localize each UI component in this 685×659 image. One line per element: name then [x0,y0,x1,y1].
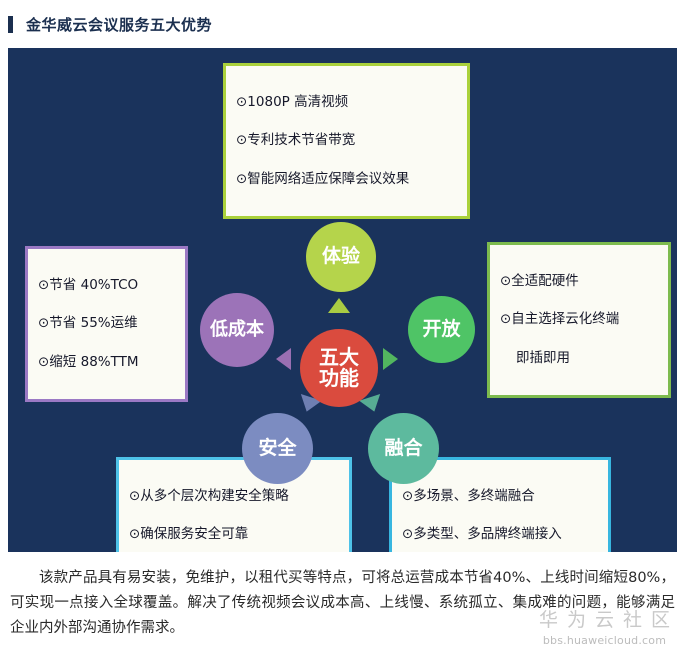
node-experience: 体验 [306,222,376,292]
node-low-cost: 低成本 [200,293,274,367]
node-security: 安全 [242,413,313,484]
node-fusion: 融合 [368,413,439,484]
arrow-right-icon [383,348,398,370]
node-center: 五大 功能 [300,329,378,407]
node-experience-label: 体验 [322,247,360,267]
node-open: 开放 [408,296,475,363]
node-center-label-line-2: 功能 [319,368,359,389]
diagram-panel: ⊙1080P 高清视频 ⊙专利技术节省带宽 ⊙智能网络适应保障会议效果 ⊙节省 … [8,48,677,552]
callout-security-line-1: ⊙从多个层次构建安全策略 [129,487,339,506]
node-low-cost-label: 低成本 [210,321,264,340]
node-security-label: 安全 [258,439,296,459]
arrow-up-icon [328,298,350,313]
callout-experience-line-2: ⊙专利技术节省带宽 [236,131,457,150]
callout-low-cost: ⊙节省 40%TCO ⊙节省 55%运维 ⊙缩短 88%TTM [25,246,188,402]
page-header: 金华威云会议服务五大优势 [0,0,685,48]
node-center-label-line-1: 五大 [319,347,359,368]
callout-security: ⊙从多个层次构建安全策略 ⊙确保服务安全可靠 [116,457,352,552]
callout-fusion-line-2: ⊙多类型、多品牌终端接入 [402,525,598,544]
callout-low-cost-line-2: ⊙节省 55%运维 [38,314,175,333]
callout-experience-line-3: ⊙智能网络适应保障会议效果 [236,170,457,189]
node-open-label: 开放 [422,320,460,340]
callout-experience-line-1: ⊙1080P 高清视频 [236,93,457,112]
arrow-left-icon [276,348,291,370]
callout-open-line-2: ⊙自主选择云化终端 [500,310,658,329]
node-center-labels: 五大 功能 [319,347,359,389]
callout-open-line-3: 即插即用 [500,349,658,368]
page-title: 金华威云会议服务五大优势 [26,14,212,35]
callout-experience: ⊙1080P 高清视频 ⊙专利技术节省带宽 ⊙智能网络适应保障会议效果 [223,63,470,219]
header-accent-bar [8,16,13,33]
callout-open: ⊙全适配硬件 ⊙自主选择云化终端 即插即用 [487,242,671,398]
callout-low-cost-line-3: ⊙缩短 88%TTM [38,353,175,372]
callout-security-line-2: ⊙确保服务安全可靠 [129,525,339,544]
callout-fusion-line-1: ⊙多场景、多终端融合 [402,487,598,506]
body-paragraph: 该款产品具有易安装，免维护，以租代买等特点，可将总运营成本节省40%、上线时间缩… [10,566,675,641]
callout-open-line-1: ⊙全适配硬件 [500,272,658,291]
callout-low-cost-line-1: ⊙节省 40%TCO [38,276,175,295]
node-fusion-label: 融合 [384,439,422,459]
